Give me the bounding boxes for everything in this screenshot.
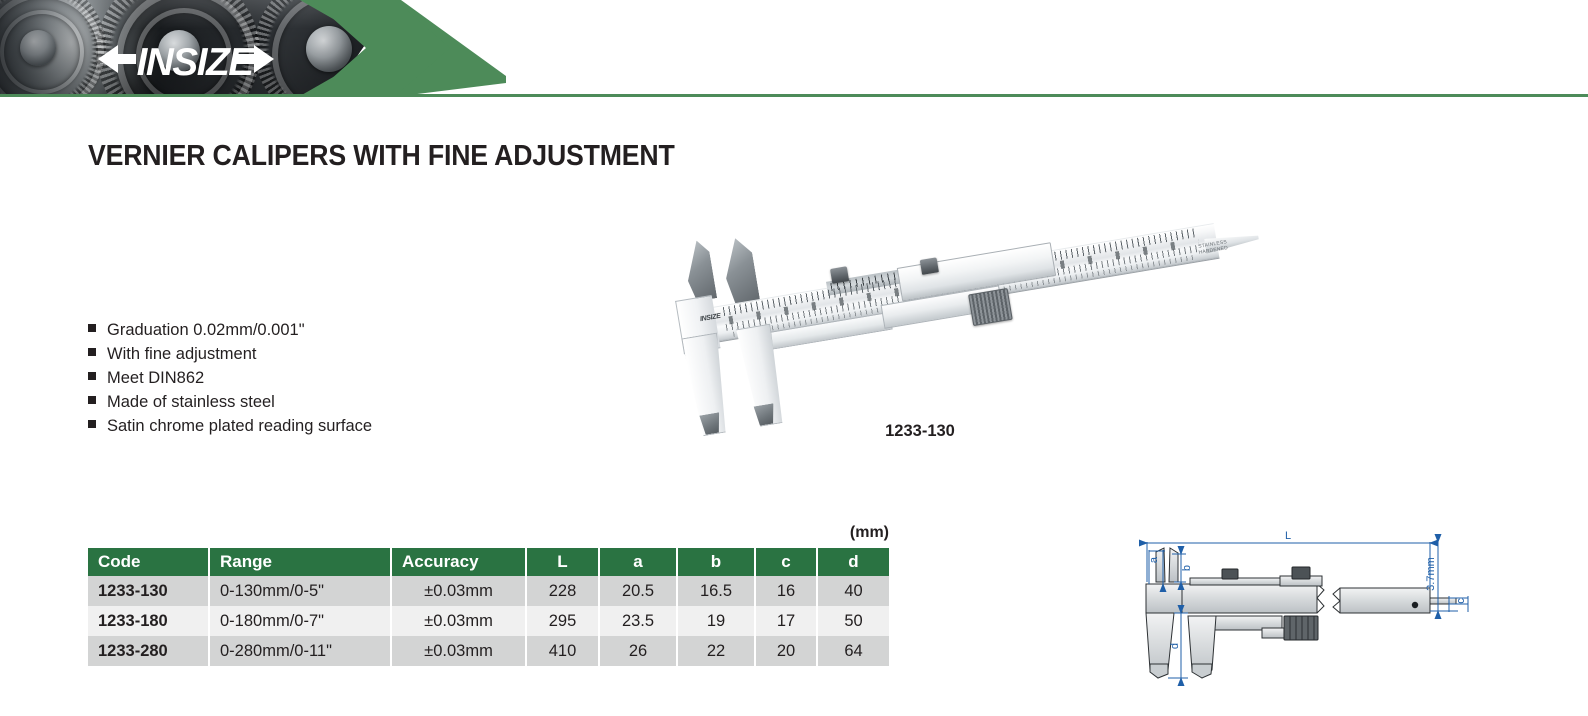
square-bullet-icon [88, 420, 96, 428]
cell-accuracy: ±0.03mm [391, 636, 526, 666]
drawing-beam-hole [1412, 602, 1418, 608]
caliper-inside-jaw-fixed [682, 239, 718, 302]
drawing-inside-jaw-fixed [1156, 548, 1165, 582]
product-model-caption: 1233-130 [810, 422, 1030, 441]
square-bullet-icon [88, 372, 96, 380]
cell-accuracy: ±0.03mm [391, 606, 526, 636]
cell-a: 23.5 [599, 606, 677, 636]
cell-code: 1233-130 [88, 576, 209, 606]
drawing-jaw-tip-sliding [1192, 664, 1212, 678]
cell-l: 410 [526, 636, 599, 666]
drawing-beam-right [1340, 588, 1430, 613]
header-green-rule [0, 94, 1588, 97]
caliper-inside-jaw-sliding [720, 236, 760, 306]
square-bullet-icon [88, 348, 96, 356]
drawing-lock-screw-1 [1222, 569, 1238, 579]
list-item: With fine adjustment [88, 342, 608, 366]
table-header-row: Code Range Accuracy L a b c d [88, 548, 889, 576]
cell-l: 228 [526, 576, 599, 606]
insize-wordmark: INSIZE [137, 41, 256, 84]
cell-code: 1233-180 [88, 606, 209, 636]
table-unit-note: (mm) [88, 524, 889, 542]
column-header-b: b [677, 548, 755, 576]
cell-l: 295 [526, 606, 599, 636]
drawing-jaw-tip-fixed [1150, 664, 1168, 678]
square-bullet-icon [88, 396, 96, 404]
column-header-accuracy: Accuracy [391, 548, 526, 576]
cell-range: 0-180mm/0-7" [209, 606, 391, 636]
drawing-break-symbol [1317, 584, 1324, 613]
cell-range: 0-130mm/0-5" [209, 576, 391, 606]
page-title: VERNIER CALIPERS WITH FINE ADJUSTMENT [88, 140, 675, 173]
drawing-inside-jaw-sliding [1169, 548, 1178, 582]
cell-accuracy: ±0.03mm [391, 576, 526, 606]
table-header: Code Range Accuracy L a b c d [88, 548, 889, 576]
vernier-caliper-image: INSIZE STAINLESS HARDENED [656, 138, 1282, 439]
cell-range: 0-280mm/0-11" [209, 636, 391, 666]
column-header-c: c [755, 548, 817, 576]
table-row: 1233-280 0-280mm/0-11" ±0.03mm 410 26 22… [88, 636, 889, 666]
caliper-lock-screw-2 [920, 257, 939, 275]
drawing-fixed-body [1146, 584, 1182, 613]
feature-label: Satin chrome plated reading surface [107, 414, 372, 438]
logo-left-arrow-icon [98, 45, 136, 73]
caliper-lock-screw-1 [830, 266, 849, 284]
cell-a: 26 [599, 636, 677, 666]
drawing-break-symbol-2 [1333, 588, 1340, 613]
cell-a: 20.5 [599, 576, 677, 606]
technical-dimension-drawing: L a b d 3.7mm c [1112, 512, 1472, 692]
insize-logo: INSIZE [96, 33, 276, 85]
feature-label: Meet DIN862 [107, 366, 204, 390]
cell-code: 1233-280 [88, 636, 209, 666]
drawing-thumbwheel [1284, 616, 1318, 640]
column-header-range: Range [209, 548, 391, 576]
dim-label-L: L [1285, 530, 1291, 542]
list-item: Meet DIN862 [88, 366, 608, 390]
cell-b: 16.5 [677, 576, 755, 606]
cell-c: 16 [755, 576, 817, 606]
list-item: Graduation 0.02mm/0.001" [88, 318, 608, 342]
list-item: Made of stainless steel [88, 390, 608, 414]
feature-label: Made of stainless steel [107, 390, 275, 414]
feature-label: Graduation 0.02mm/0.001" [107, 318, 305, 342]
cell-d: 50 [817, 606, 889, 636]
drawing-lock-screw-2 [1292, 567, 1310, 579]
specification-table: Code Range Accuracy L a b c d 1233-130 0… [88, 548, 889, 666]
product-photo: INSIZE STAINLESS HARDENED [672, 216, 1272, 421]
page-header: INSIZE [0, 0, 1588, 97]
feature-list: Graduation 0.02mm/0.001" With fine adjus… [88, 318, 608, 438]
caliper-knurled-thumbwheel [968, 288, 1013, 326]
cell-d: 40 [817, 576, 889, 606]
feature-label: With fine adjustment [107, 342, 256, 366]
cell-d: 64 [817, 636, 889, 666]
column-header-d: d [817, 548, 889, 576]
square-bullet-icon [88, 324, 96, 332]
dim-label-d: d [1169, 643, 1181, 649]
dim-label-thickness: 3.7mm [1425, 557, 1437, 591]
header-green-arrow [300, 0, 506, 96]
dim-label-a: a [1148, 556, 1160, 563]
table-row: 1233-180 0-180mm/0-7" ±0.03mm 295 23.5 1… [88, 606, 889, 636]
cell-c: 20 [755, 636, 817, 666]
list-item: Satin chrome plated reading surface [88, 414, 608, 438]
table-row: 1233-130 0-130mm/0-5" ±0.03mm 228 20.5 1… [88, 576, 889, 606]
cell-b: 22 [677, 636, 755, 666]
drawing-depth-rod [1430, 598, 1456, 604]
column-header-code: Code [88, 548, 209, 576]
cell-b: 19 [677, 606, 755, 636]
dim-label-c: c [1455, 598, 1467, 604]
cell-c: 17 [755, 606, 817, 636]
dim-label-b: b [1181, 565, 1193, 571]
column-header-l: L [526, 548, 599, 576]
column-header-a: a [599, 548, 677, 576]
